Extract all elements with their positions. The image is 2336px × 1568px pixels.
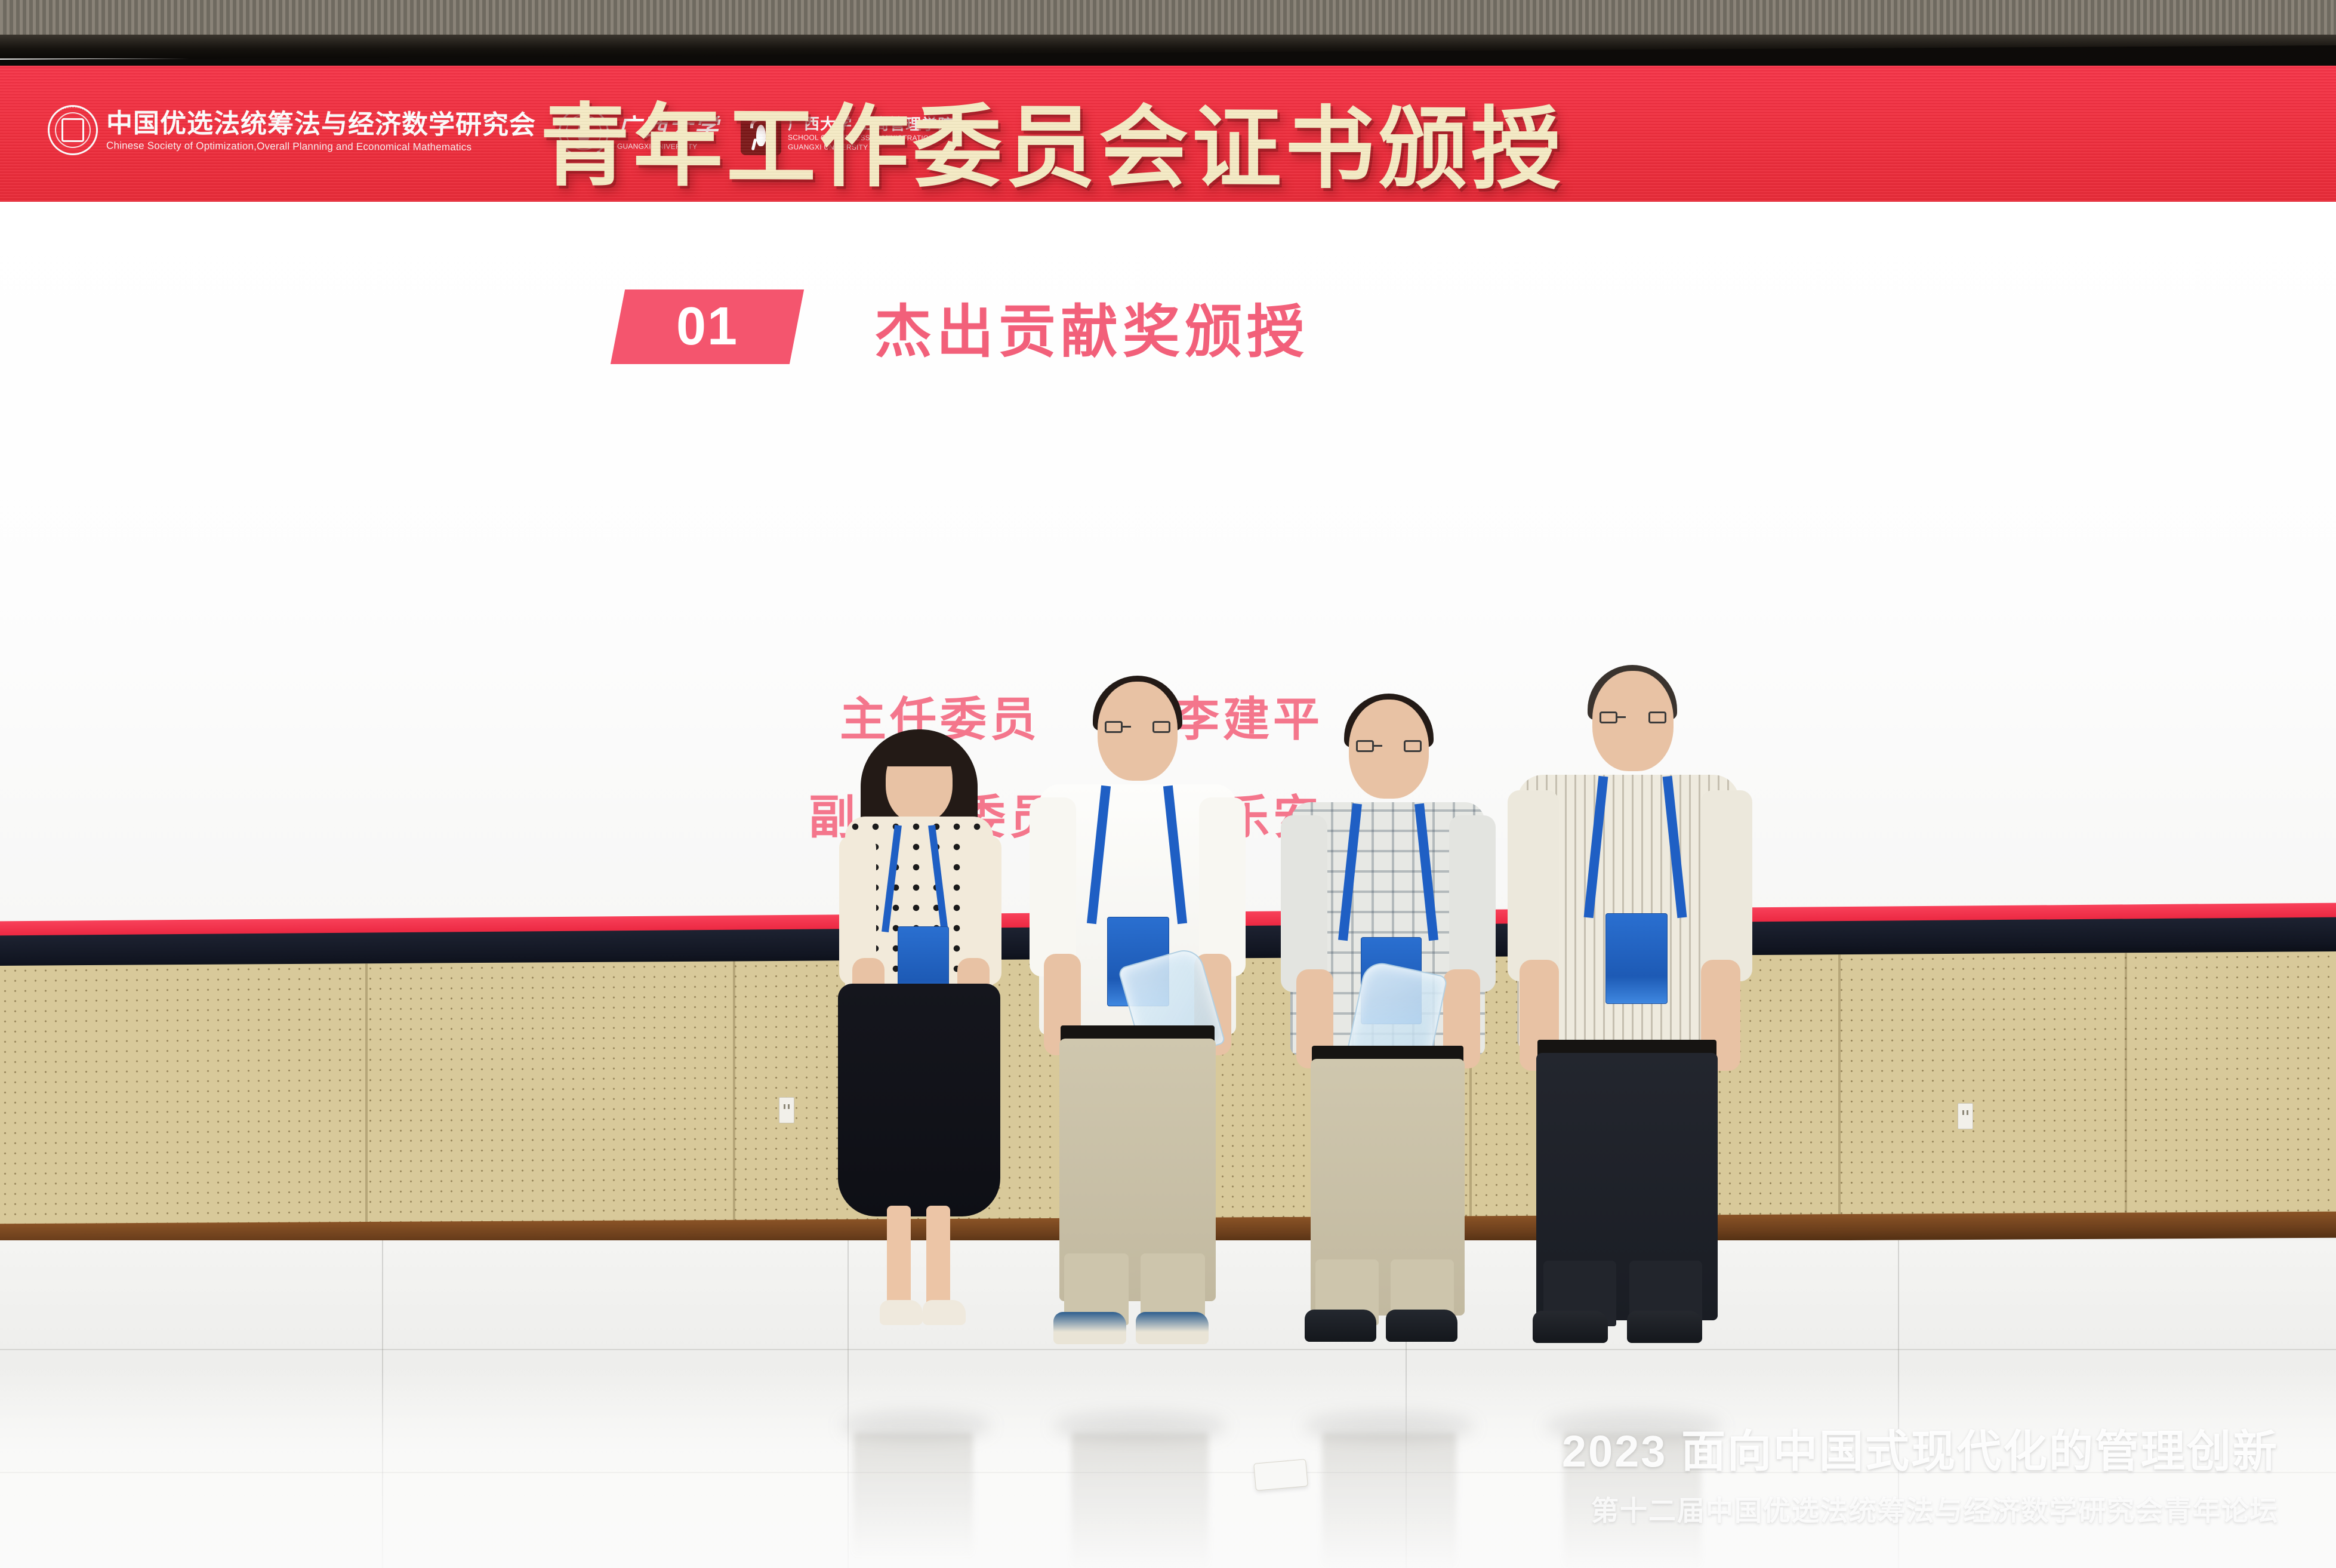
person-awardee-right xyxy=(1271,657,1504,1433)
shoe-left xyxy=(880,1300,923,1325)
leg-left xyxy=(887,1206,911,1307)
shoe-right xyxy=(923,1300,966,1325)
csoopem-name-cn: 中国优选法统筹法与经济数学研究会 xyxy=(106,109,536,140)
person-presenter-woman xyxy=(818,657,1021,1433)
arm-right xyxy=(1449,815,1496,992)
shoe-right xyxy=(1386,1310,1457,1342)
shoe-right xyxy=(1627,1311,1702,1343)
name-badge xyxy=(1605,913,1668,1004)
csoopem-name-en: Chinese Society of Optimization,Overall … xyxy=(106,140,536,153)
skirt xyxy=(838,984,1000,1216)
person-awardee-left xyxy=(1018,657,1256,1433)
banner-title: 青年工作委员会证书颁授 xyxy=(540,73,1564,204)
phone-on-floor xyxy=(1253,1459,1308,1490)
arm-right xyxy=(1199,797,1246,976)
slide-header: 01 杰出贡献奖颁授 xyxy=(618,285,1309,368)
glasses-icon xyxy=(1600,711,1666,725)
shoe-left xyxy=(1053,1312,1126,1344)
section-number: 01 xyxy=(676,296,738,358)
arm-right xyxy=(1701,790,1752,981)
event-banner: 中国优选法统筹法与经济数学研究会 Chinese Society of Opti… xyxy=(0,66,2336,204)
arm-left xyxy=(1030,797,1076,976)
shoe-left xyxy=(1533,1311,1608,1343)
logo-csoopem: 中国优选法统筹法与经济数学研究会 Chinese Society of Opti… xyxy=(48,105,536,158)
csoopem-seal-icon xyxy=(48,105,98,155)
hair-fringe xyxy=(881,732,957,766)
arm-left xyxy=(1281,815,1327,992)
person-host-right xyxy=(1504,657,1755,1433)
arm-left xyxy=(1508,790,1559,981)
shoe-right xyxy=(1136,1312,1209,1344)
glasses-icon xyxy=(1105,721,1170,734)
leg-right xyxy=(926,1206,950,1307)
photo-scene: 中国优选法统筹法与经济数学研究会 Chinese Society of Opti… xyxy=(0,0,2336,1568)
section-title: 杰出贡献奖颁授 xyxy=(874,285,1309,368)
shoe-left xyxy=(1305,1310,1376,1342)
glasses-icon xyxy=(1356,740,1422,753)
award-recipients-group xyxy=(0,657,2336,1433)
section-number-badge: 01 xyxy=(611,289,804,364)
